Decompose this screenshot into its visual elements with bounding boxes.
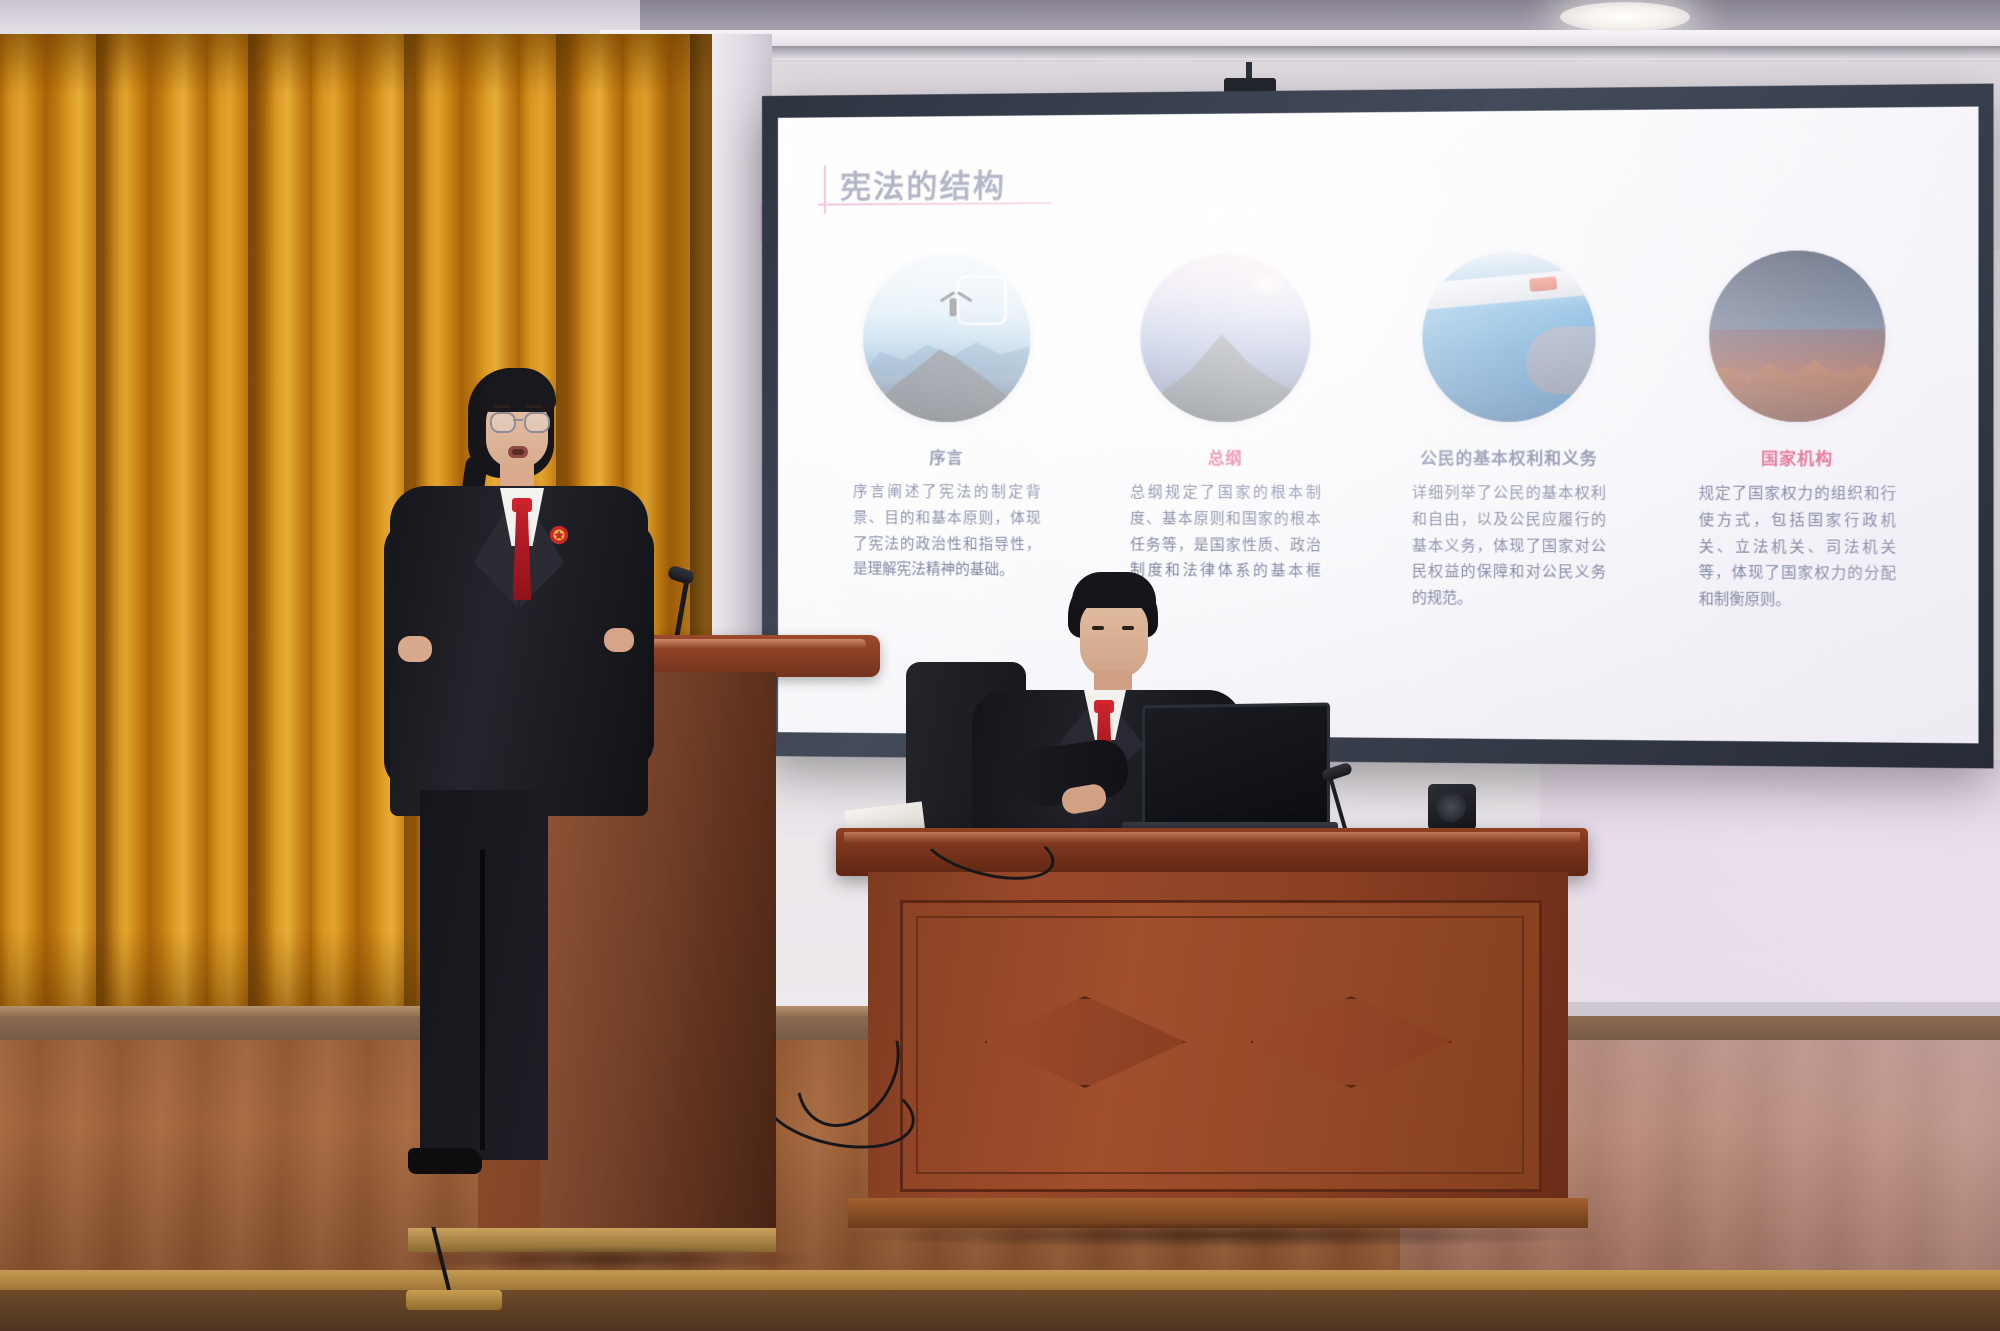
- slide-column-3: 公民的基本权利和义务 详细列举了公民的基本权利和自由，以及公民应履行的基本义务，…: [1380, 251, 1639, 613]
- stage-front-trim: [0, 1270, 2000, 1292]
- wall-shadow: [640, 46, 2000, 62]
- desk-diamond-right: [1250, 996, 1452, 1088]
- presentation-slide: 宪法的结构 序言 序言阐述了宪法的制定背景、目的和基本原则，体现了宪法的政治性和…: [778, 107, 1979, 744]
- podium-floor-shadow: [400, 1246, 820, 1272]
- slide-title: 宪法的结构: [840, 160, 1006, 206]
- desk-diamond-ornaments: [920, 930, 1516, 1154]
- desk-diamond-left: [984, 996, 1186, 1088]
- floor-foreground: [0, 1290, 2000, 1331]
- red-rock-canyon-photo: [1709, 250, 1885, 422]
- column-1-heading: 序言: [929, 444, 963, 468]
- speaker-hand-right: [604, 628, 634, 652]
- seated-person-face: [1080, 598, 1148, 678]
- speaker-leg-seam: [480, 850, 485, 1150]
- lecture-hall-photo: 宪法的结构 序言 序言阐述了宪法的制定背景、目的和基本原则，体现了宪法的政治性和…: [0, 0, 2000, 1331]
- slide-column-4: 国家机构 规定了国家权力的组织和行使方式，包括国家行政机关、立法机关、司法机关等…: [1666, 250, 1929, 616]
- desk-speaker-cone: [1436, 792, 1466, 822]
- speaker-mouth-inner: [512, 449, 524, 455]
- column-4-heading: 国家机构: [1761, 445, 1833, 470]
- column-2-body: 总纲规定了国家的根本制度、基本原则和国家的根本任务等，是国家性质、政治制度和法律…: [1130, 481, 1321, 613]
- slide-column-2: 总纲 总纲规定了国家的根本制度、基本原则和国家的根本任务等，是国家性质、政治制度…: [1099, 253, 1353, 612]
- speaker-shoe: [408, 1148, 482, 1174]
- ceiling-light: [1560, 2, 1690, 32]
- desk-floor-shadow: [840, 1222, 1600, 1248]
- slide-column-1: 序言 序言阐述了宪法的制定背景、目的和基本原则，体现了宪法的政治性和指导性，是理…: [822, 254, 1072, 610]
- column-3-heading: 公民的基本权利和义务: [1420, 444, 1597, 469]
- mountain-sunrise-photo: [1140, 253, 1310, 422]
- column-4-body: 规定了国家权力的组织和行使方式，包括国家行政机关、立法机关、司法机关等，体现了国…: [1699, 482, 1896, 616]
- projection-screen: 宪法的结构 序言 序言阐述了宪法的制定背景、目的和基本原则，体现了宪法的政治性和…: [778, 107, 1979, 744]
- curtain-fold: [96, 34, 122, 1044]
- wall-baseboard: [1540, 1002, 2000, 1016]
- mountain-summit-hiker-photo: [863, 255, 1030, 422]
- seated-person-hair-front: [1072, 572, 1156, 608]
- curtain-fold: [248, 34, 274, 1044]
- title-accent-vertical: [824, 165, 826, 213]
- photo-icon-overlay: [957, 275, 1008, 326]
- floor-microphone-base: [406, 1290, 502, 1310]
- laptop-screen[interactable]: [1142, 703, 1330, 834]
- column-3-body: 详细列举了公民的基本权利和自由，以及公民应履行的基本义务，体现了国家对公民权益的…: [1412, 481, 1606, 614]
- column-2-heading: 总纲: [1208, 444, 1243, 468]
- speaker-hand-left: [398, 636, 432, 662]
- badge-pin-icon: [548, 524, 570, 546]
- bridge-over-blue-water-photo: [1422, 252, 1595, 422]
- eyeglasses-icon: [490, 412, 546, 430]
- column-1-body: 序言阐述了宪法的制定背景、目的和基本原则，体现了宪法的政治性和指导性，是理解宪法…: [853, 480, 1041, 584]
- slide-columns: 序言 序言阐述了宪法的制定背景、目的和基本原则，体现了宪法的政治性和指导性，是理…: [822, 250, 1940, 616]
